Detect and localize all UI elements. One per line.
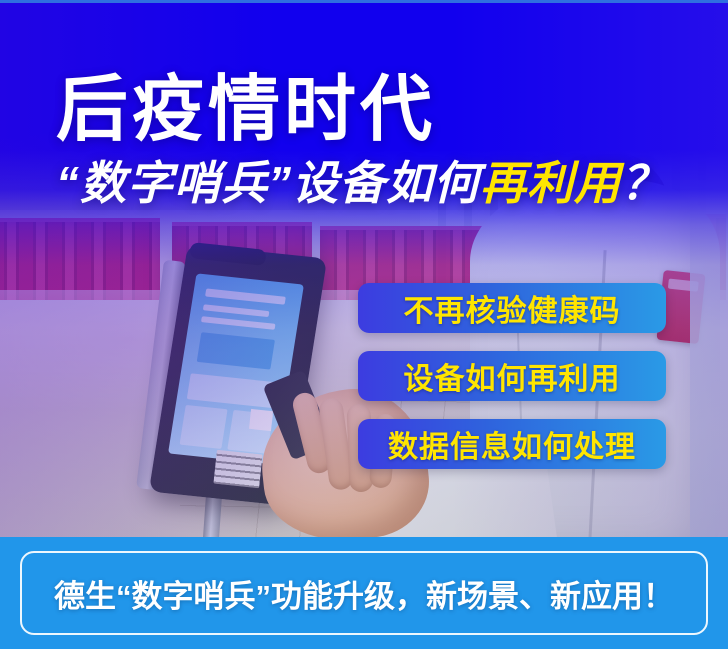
topic-pill-1[interactable]: 不再核验健康码 xyxy=(358,283,666,333)
topic-pill-1-label: 不再核验健康码 xyxy=(404,286,621,330)
bottom-banner-frame: 德生“数字哨兵”功能升级，新场景、新应用！ xyxy=(20,551,708,635)
headline-block: 后疫情时代 “数字哨兵”设备如何再利用？ xyxy=(56,72,696,209)
top-hairline xyxy=(0,0,728,3)
topic-pill-3-label: 数据信息如何处理 xyxy=(388,422,636,466)
page-title: 后疫情时代 xyxy=(56,72,696,148)
page-subtitle: “数字哨兵”设备如何再利用？ xyxy=(56,158,696,209)
subtitle-prefix: “数字哨兵”设备如何 xyxy=(56,157,480,209)
subtitle-question-mark: ？ xyxy=(621,157,668,209)
subtitle-highlight: 再利用 xyxy=(480,157,621,209)
bottom-banner-text: 德生“数字哨兵”功能升级，新场景、新应用！ xyxy=(54,571,674,616)
poster-banner: 后疫情时代 “数字哨兵”设备如何再利用？ 不再核验健康码 设备如何再利用 数据信… xyxy=(0,0,728,649)
topic-pill-3[interactable]: 数据信息如何处理 xyxy=(358,419,666,469)
topic-pill-list: 不再核验健康码 设备如何再利用 数据信息如何处理 xyxy=(358,283,666,487)
bottom-banner: 德生“数字哨兵”功能升级，新场景、新应用！ xyxy=(0,537,728,649)
topic-pill-2-label: 设备如何再利用 xyxy=(404,354,621,398)
topic-pill-2[interactable]: 设备如何再利用 xyxy=(358,351,666,401)
